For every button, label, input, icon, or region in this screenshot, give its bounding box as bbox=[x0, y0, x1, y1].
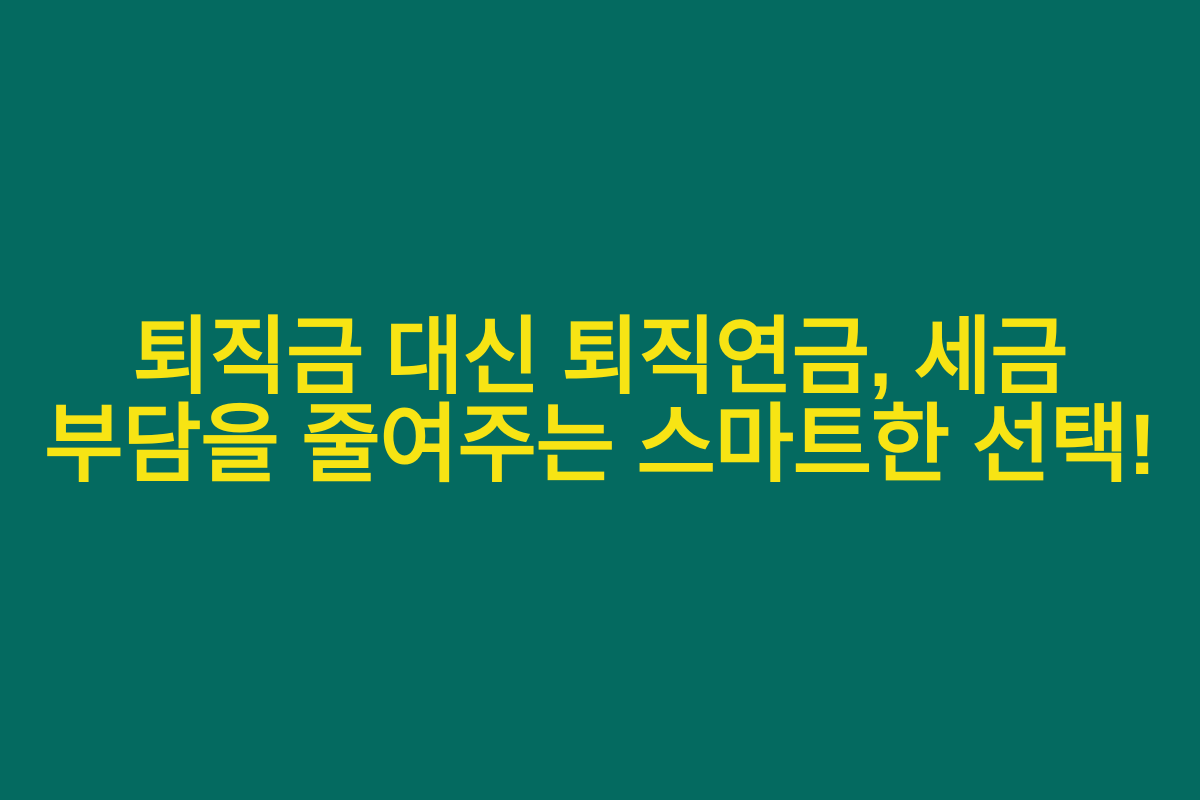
banner-canvas: 퇴직금 대신 퇴직연금, 세금 부담을 줄여주는 스마트한 선택! bbox=[0, 0, 1200, 800]
headline-line-1: 퇴직금 대신 퇴직연금, 세금 bbox=[17, 314, 1183, 402]
headline-line-2: 부담을 줄여주는 스마트한 선택! bbox=[14, 401, 1186, 490]
headline-block: 퇴직금 대신 퇴직연금, 세금 부담을 줄여주는 스마트한 선택! bbox=[0, 314, 1200, 490]
